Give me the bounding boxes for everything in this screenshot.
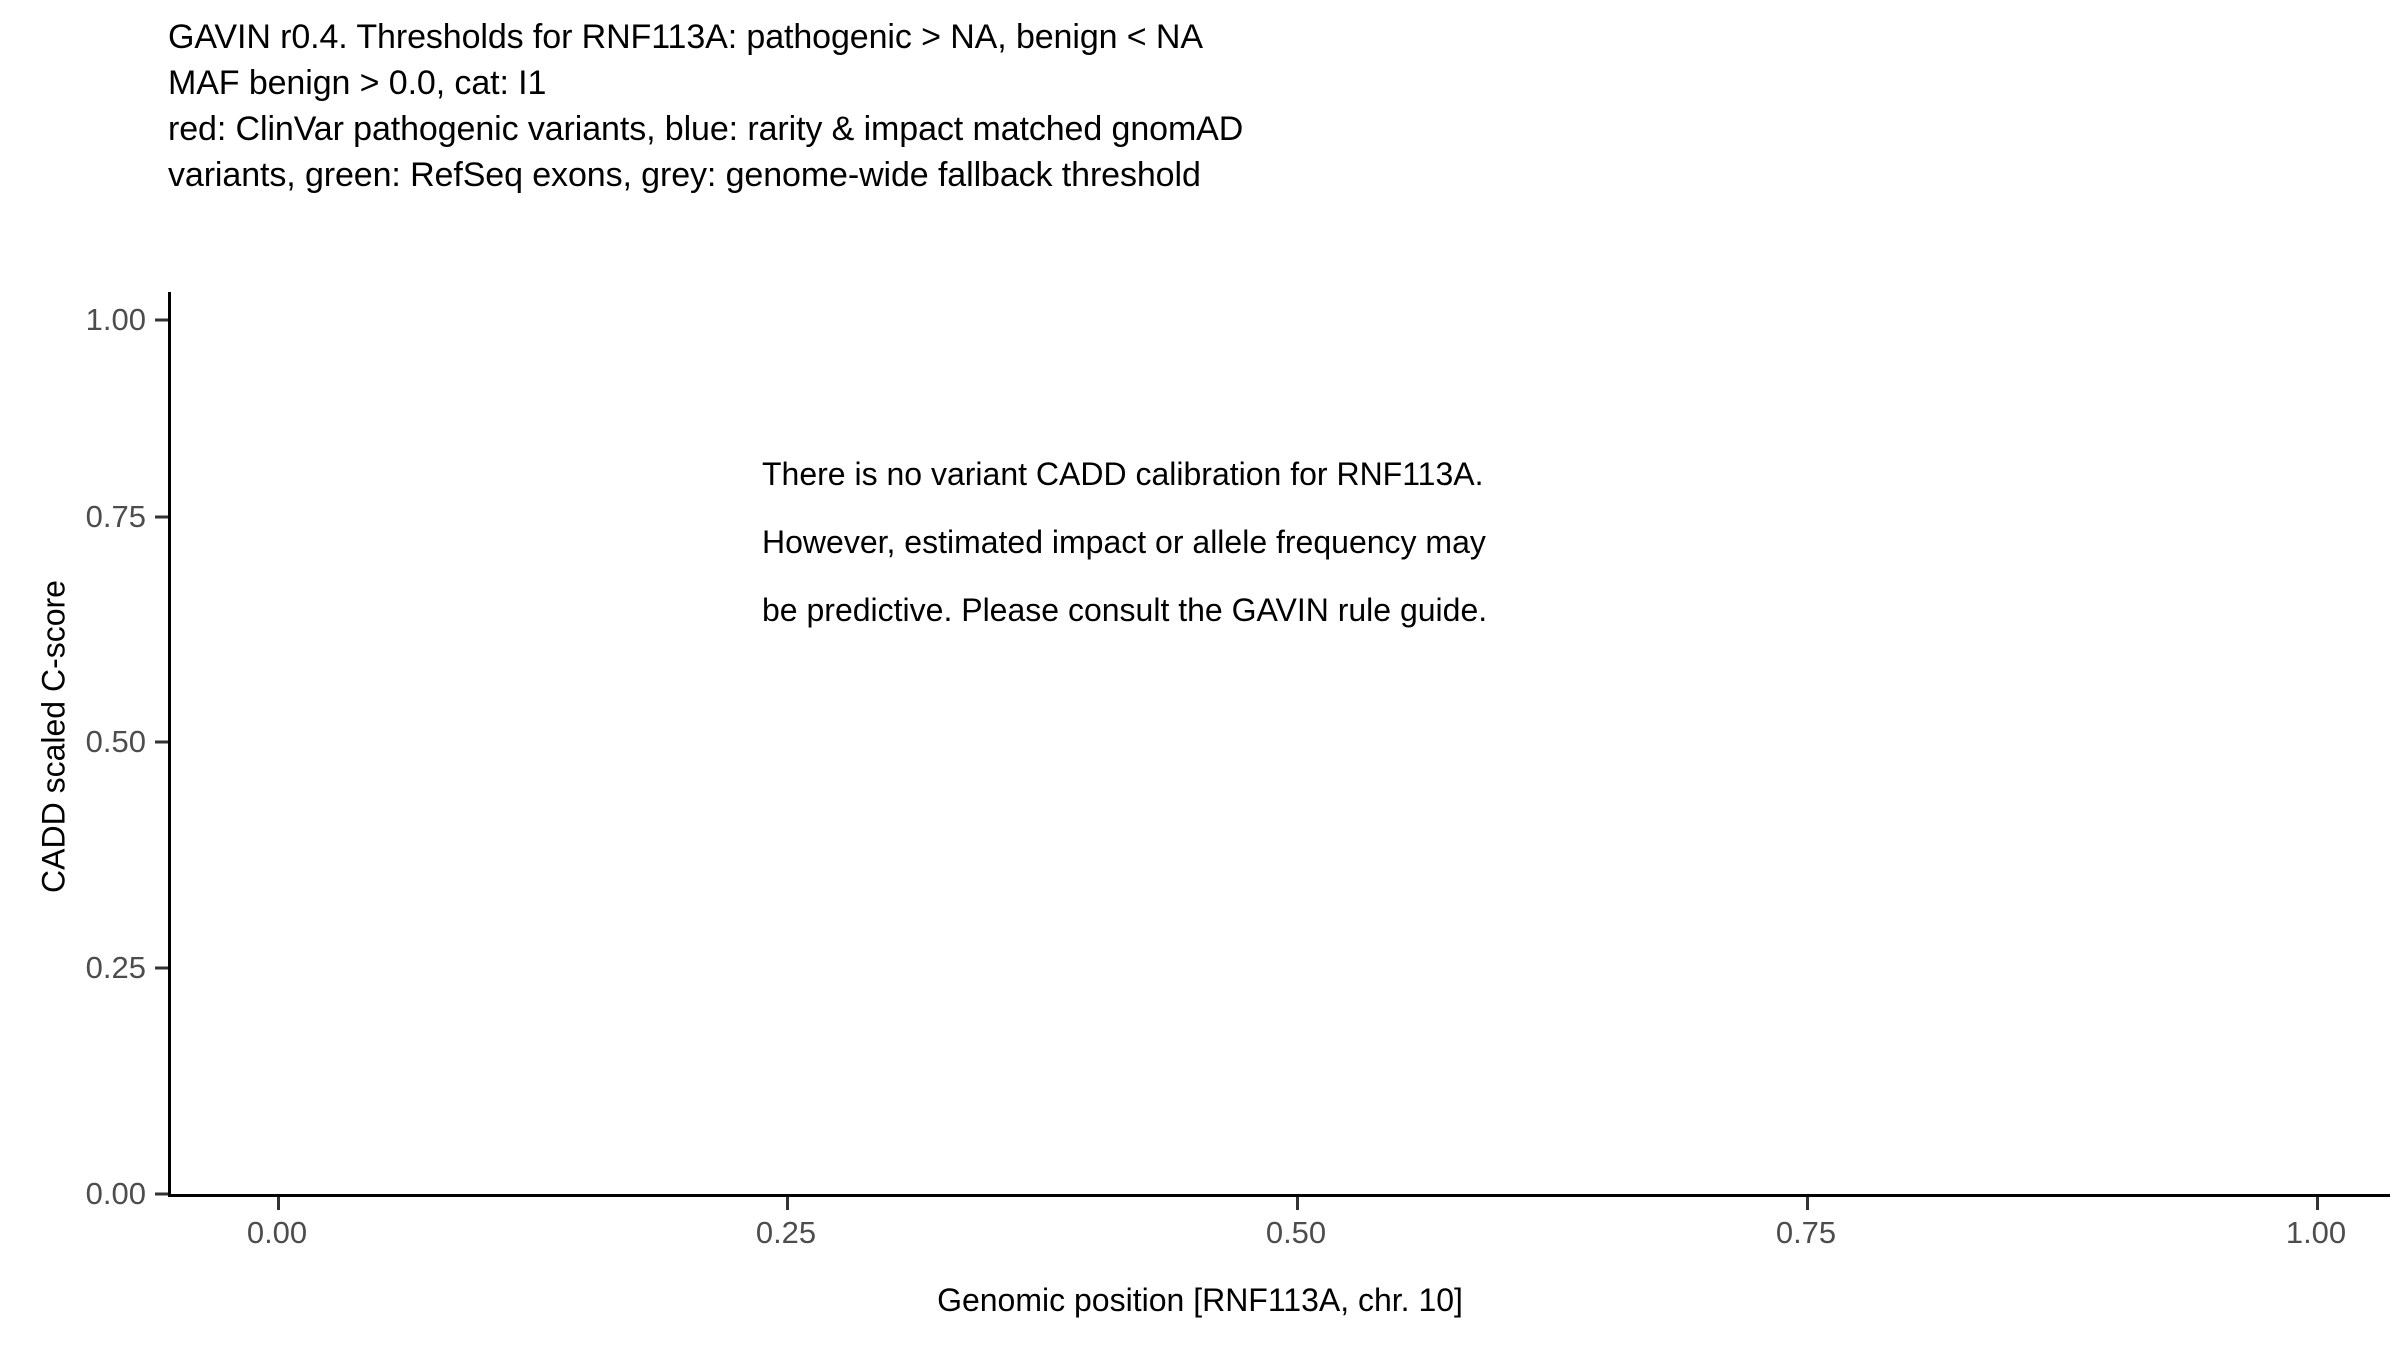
plot-title: GAVIN r0.4. Thresholds for RNF113A: path…	[168, 14, 2348, 198]
y-tick-mark-3	[155, 516, 168, 519]
annotation-line-1: There is no variant CADD calibration for…	[762, 440, 1862, 508]
y-tick-label-2: 0.50	[0, 724, 146, 760]
x-tick-label-2: 0.50	[1186, 1215, 1406, 1251]
x-tick-mark-1	[786, 1197, 789, 1210]
plot-title-line-3: red: ClinVar pathogenic variants, blue: …	[168, 106, 2348, 152]
y-tick-mark-0	[155, 1193, 168, 1196]
x-tick-mark-3	[1806, 1197, 1809, 1210]
plot-title-line-2: MAF benign > 0.0, cat: I1	[168, 60, 2348, 106]
y-tick-label-4: 1.00	[0, 302, 146, 338]
plot-panel	[168, 292, 2390, 1192]
annotation-line-2: However, estimated impact or allele freq…	[762, 508, 1862, 576]
y-tick-label-0: 0.00	[0, 1176, 146, 1212]
y-tick-label-1: 0.25	[0, 950, 146, 986]
plot-title-line-1: GAVIN r0.4. Thresholds for RNF113A: path…	[168, 14, 2348, 60]
plot-annotation: There is no variant CADD calibration for…	[762, 440, 1862, 644]
plot-title-line-4: variants, green: RefSeq exons, grey: gen…	[168, 152, 2348, 198]
x-axis-line	[168, 1194, 2390, 1197]
x-tick-label-4: 1.00	[2206, 1215, 2400, 1251]
y-tick-label-3: 0.75	[0, 499, 146, 535]
y-tick-mark-4	[155, 319, 168, 322]
x-tick-mark-0	[277, 1197, 280, 1210]
x-tick-label-3: 0.75	[1696, 1215, 1916, 1251]
x-axis-title: Genomic position [RNF113A, chr. 10]	[0, 1282, 2400, 1319]
x-tick-mark-2	[1296, 1197, 1299, 1210]
y-axis-line	[168, 292, 171, 1197]
y-tick-mark-1	[155, 967, 168, 970]
x-tick-label-0: 0.00	[167, 1215, 387, 1251]
x-tick-label-1: 0.25	[676, 1215, 896, 1251]
annotation-line-3: be predictive. Please consult the GAVIN …	[762, 576, 1862, 644]
x-tick-mark-4	[2316, 1197, 2319, 1210]
y-tick-mark-2	[155, 741, 168, 744]
